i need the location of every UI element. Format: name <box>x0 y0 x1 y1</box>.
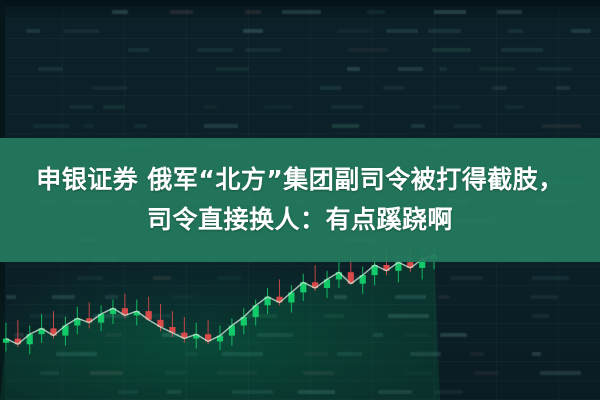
headline-banner: 申银证券 俄军“北方”集团副司令被打得截肢， 司令直接换人：有点蹊跷啊 <box>0 138 600 262</box>
news-thumbnail-image: 申银证券 俄军“北方”集团副司令被打得截肢， 司令直接换人：有点蹊跷啊 <box>0 0 600 400</box>
headline-line-1: 申银证券 俄军“北方”集团副司令被打得截肢， <box>36 160 564 200</box>
headline-line-2: 司令直接换人：有点蹊跷啊 <box>147 200 453 240</box>
